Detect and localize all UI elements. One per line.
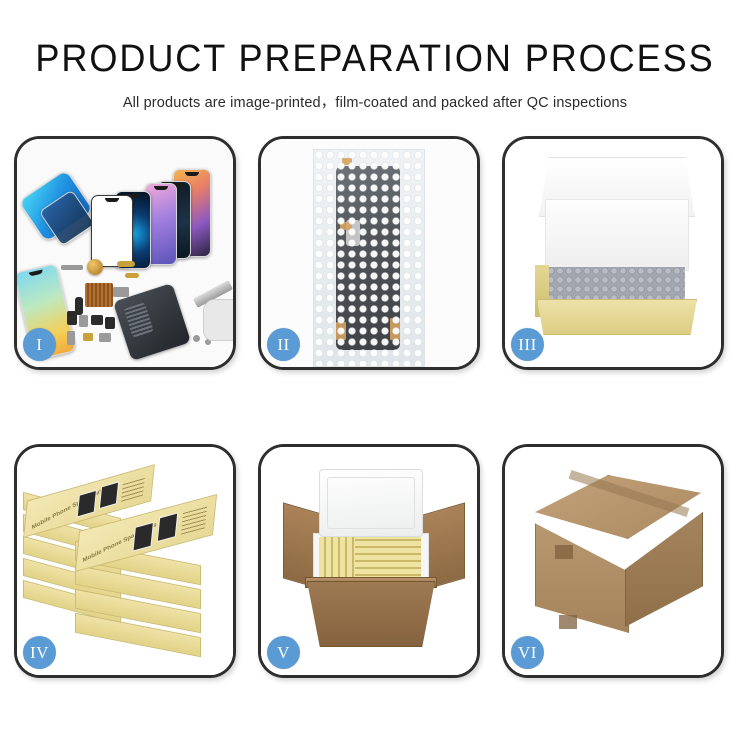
- logic-board-part: [85, 283, 113, 307]
- bubble-wrap-layer: [547, 267, 685, 301]
- panel-badge-vi: VI: [511, 636, 544, 669]
- panel-badge-i: I: [23, 328, 56, 361]
- panel-products[interactable]: I: [14, 136, 236, 370]
- yellow-boxes-inside-side: [319, 537, 355, 581]
- carton-front-panel: [307, 581, 435, 647]
- carton-handle-tab-bottom: [559, 615, 577, 629]
- foam-sheet: [545, 199, 689, 271]
- vibration-motor-part: [87, 259, 103, 275]
- panel-badge-v: V: [267, 636, 300, 669]
- foam-lid: [319, 469, 423, 537]
- panel-carton-loading[interactable]: V: [258, 444, 480, 678]
- carton-handle-tab-top: [555, 545, 573, 559]
- page-subtitle: All products are image-printed，film-coat…: [0, 91, 750, 112]
- panel-sealed-carton[interactable]: VI: [502, 444, 724, 678]
- panel-badge-iii: III: [511, 328, 544, 361]
- panel-bubble-wrap[interactable]: II: [258, 136, 480, 370]
- panel-badge-iv: IV: [23, 636, 56, 669]
- bubble-wrap-bag: [313, 149, 425, 367]
- process-grid: I II: [14, 136, 736, 678]
- panel-badge-ii: II: [267, 328, 300, 361]
- page-title: PRODUCT PREPARATION PROCESS: [19, 38, 732, 80]
- box-front-panel: [537, 299, 697, 335]
- panel-foam-box[interactable]: III: [502, 136, 724, 370]
- phone-glass-blank: [91, 195, 133, 267]
- page-header: PRODUCT PREPARATION PROCESS All products…: [0, 0, 750, 112]
- technician-hand: [203, 299, 233, 341]
- panel-boxed-stack[interactable]: Mobile Phone Spare Parts Mobile Phone Sp…: [14, 444, 236, 678]
